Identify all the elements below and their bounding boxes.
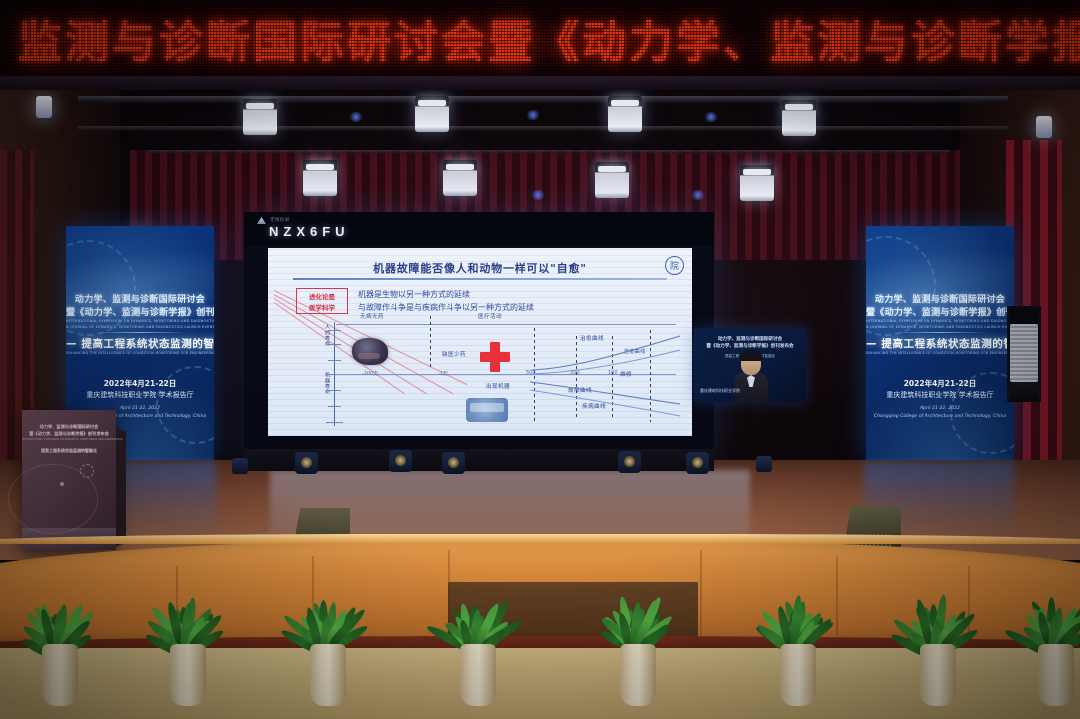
banner-subtitle: — 提高工程系统状态监测的智能化 —: [866, 336, 1014, 351]
chart-tick: [328, 390, 341, 391]
cast-connection-code: NZX6FU: [269, 224, 350, 239]
chart-annotation-machine-appear: 出现机器: [486, 382, 510, 390]
stage-par-light: [782, 100, 816, 136]
apron-panel-seam: [700, 550, 702, 636]
banner-title-line1: 动力学、监测与诊断国际研讨会: [866, 292, 1014, 305]
podium-title-line2: 暨《动力学、监测与诊断学报》创刊发布会: [22, 431, 116, 437]
potted-plant: [1018, 576, 1080, 706]
apron-panel-seam: [836, 556, 838, 636]
university-seal-icon: 院: [665, 256, 684, 275]
remote-speaker-video-feed[interactable]: 动力学、监测与诊断国际研讨会 暨《动力学、监测与诊断学报》创刊发布会 提高工程系…: [694, 328, 806, 402]
chart-tick: [328, 406, 341, 407]
video-caption: 重庆建筑科技职业学院: [700, 388, 740, 394]
side-spot-light: [1036, 116, 1052, 138]
slide-body-text: 机器是生物以另一种方式的延续 与故障作斗争是与疾病作斗争以另一种方式的延续: [358, 288, 678, 314]
red-callout-line1: 进化论是: [309, 291, 335, 301]
blue-led-fixture: [703, 112, 719, 122]
chart-phase-label-1: 无病无药: [360, 312, 384, 320]
stage-par-light: [443, 160, 477, 196]
banner-date-cn: 2022年4月21-22日: [866, 378, 1014, 389]
podium-en-line: INTERNATIONAL SYMPOSIUM ON DYNAMICS, MON…: [22, 438, 116, 441]
blue-led-fixture: [690, 190, 706, 200]
chart-cure-curve-line: [530, 324, 682, 376]
moving-head-light-small: [756, 456, 772, 472]
chart-tick: [326, 422, 343, 423]
chart-phase-label-2: 医疗活动: [478, 312, 502, 320]
stage-par-light: [595, 162, 629, 198]
banner-en-subtitle: ENHANCING THE INTELLIGENCE OF CONDITION …: [66, 351, 214, 355]
podium-title-line1: 动力学、监测与诊断国际研讨会: [22, 424, 116, 430]
moving-head-light: [686, 452, 709, 474]
gear-decor-icon: [80, 464, 94, 478]
banner-date-cn: 2022年4月21-22日: [66, 378, 214, 389]
led-banner-text: 监测与诊断国际研讨会暨《动力学、监测与诊断学报》创: [18, 8, 1080, 78]
lighting-truss-upper: [78, 96, 1008, 103]
banner-venue-cn: 重庆建筑科技职业学院 学术报告厅: [866, 390, 1014, 400]
potted-plant: [600, 576, 676, 706]
slide-title: 机器故障能否像人和动物一样可以"自愈": [268, 260, 692, 276]
main-projection-screen[interactable]: 无线投屏 NZX6FU 机器故障能否像人和动物一样可以"自愈" 院 进化论是 医…: [244, 212, 714, 464]
plant-pot: [460, 644, 496, 706]
moving-head-light: [295, 452, 318, 474]
potted-plant: [22, 576, 98, 706]
slide-title-divider: [293, 278, 666, 280]
plant-pot: [920, 644, 956, 706]
banner-subtitle: — 提高工程系统状态监测的智能化 —: [66, 336, 214, 351]
moving-head-light-small: [232, 458, 248, 474]
cast-brand-label: 无线投屏: [270, 217, 290, 223]
chart-annotation-shortage: 缺医少药: [442, 350, 466, 358]
lighting-truss-mid: [150, 150, 950, 154]
plant-pot: [42, 644, 78, 706]
plant-pot: [780, 644, 816, 706]
video-banner-line2: 暨《动力学、监测与诊断学报》创刊发布会: [694, 343, 806, 349]
stage-par-light: [740, 165, 774, 201]
ceiling-strip: [0, 76, 1080, 90]
banner-en-line1: INTERNATIONAL SYMPOSIUM ON DYNAMICS, MON…: [866, 319, 1014, 323]
banner-venue-en: Chongqing College of Architecture and Te…: [866, 414, 1014, 419]
chart-tick: [328, 344, 341, 345]
plant-pot: [1038, 644, 1074, 706]
potted-plant: [150, 576, 226, 706]
potted-plant: [900, 576, 976, 706]
blue-led-fixture: [530, 190, 546, 200]
banner-date-en: April 21-22, 2022: [866, 406, 1014, 411]
red-callout-line2: 医学科学: [309, 302, 335, 312]
chart-tick: [328, 330, 341, 331]
potted-plant: [440, 576, 516, 706]
presentation-slide: 机器故障能否像人和动物一样可以"自愈" 院 进化论是 医学科学 机器是生物以另一…: [268, 248, 692, 436]
banner-divider: [893, 332, 988, 333]
plant-pot: [170, 644, 206, 706]
plant-pot: [620, 644, 656, 706]
moving-head-light: [389, 450, 412, 472]
stage-apron-lip: [0, 534, 1080, 544]
moving-head-light: [618, 451, 641, 473]
pa-speaker-stack-right: [1007, 306, 1041, 402]
slide-body-line2: 与故障作斗争是与疾病作斗争以另一种方式的延续: [358, 301, 678, 314]
skull-fossil-image: [352, 338, 388, 365]
stage-par-light: [415, 96, 449, 132]
machine-illustration-image: [466, 398, 508, 422]
chart-y-label-machine: 机器寿命: [324, 372, 331, 395]
banner-title-line2: 暨《动力学、监测与诊断学报》创刊发布会: [66, 305, 214, 318]
pa-speaker-cabinet: [1010, 324, 1038, 382]
slide-body-line1: 机器是生物以另一种方式的延续: [358, 288, 678, 301]
banner-en-line1: INTERNATIONAL SYMPOSIUM ON DYNAMICS, MON…: [66, 319, 214, 323]
podium-dot-decor: [60, 482, 64, 486]
moving-head-light: [442, 452, 465, 474]
potted-plant: [760, 576, 836, 706]
chart-phase-divider: [430, 316, 431, 368]
banner-title-line1: 动力学、监测与诊断国际研讨会: [66, 292, 214, 305]
side-led-banner-right: 动力学、监测与诊断国际研讨会 暨《动力学、监测与诊断学报》创刊发布会 INTER…: [866, 226, 1014, 460]
medical-cross-icon: [480, 342, 510, 372]
speaker-figure: [734, 352, 768, 402]
banner-en-subtitle: ENHANCING THE INTELLIGENCE OF CONDITION …: [866, 351, 1014, 355]
blue-led-fixture: [348, 112, 364, 122]
chart-tick-label: -200万: [362, 370, 378, 377]
auditorium-scene: 监测与诊断国际研讨会暨《动力学、监测与诊断学报》创 动力学、监测与诊断国际研讨会…: [0, 0, 1080, 719]
banner-en-line2: & JOURNAL OF DYNAMICS, MONITORING AND DI…: [66, 325, 214, 329]
chart-tick-label: -1万: [438, 370, 448, 377]
blue-led-fixture: [525, 110, 541, 120]
stage-par-light: [303, 160, 337, 196]
speaker-podium[interactable]: 动力学、监测与诊断国际研讨会 暨《动力学、监测与诊断学报》创刊发布会 INTER…: [22, 410, 116, 550]
video-banner-line1: 动力学、监测与诊断国际研讨会: [694, 336, 806, 342]
stage-par-light: [608, 96, 642, 132]
banner-en-line2: & JOURNAL OF DYNAMICS, MONITORING AND DI…: [866, 325, 1014, 329]
lighting-truss-upper-lower-chord: [78, 126, 1008, 131]
banner-title-line2: 暨《动力学、监测与诊断学报》创刊发布会: [866, 305, 1014, 318]
plant-pot: [310, 644, 346, 706]
banner-divider: [93, 332, 188, 333]
speaker-hair: [739, 350, 763, 361]
stage-par-light: [243, 99, 277, 135]
cast-triangle-icon: [257, 217, 266, 224]
potted-plant: [290, 576, 366, 706]
pa-speaker-stand: [1009, 382, 1039, 402]
chart-fault-curve-line: [528, 376, 682, 422]
slide-red-callout-box: 进化论是 医学科学: [296, 288, 348, 314]
cast-status-bar: 无线投屏 NZX6FU: [244, 212, 714, 246]
side-spot-light: [36, 96, 52, 118]
led-scrolling-banner: 监测与诊断国际研讨会暨《动力学、监测与诊断学报》创: [0, 0, 1080, 86]
chart-tick: [328, 360, 341, 361]
banner-venue-cn: 重庆建筑科技职业学院 学术报告厅: [66, 390, 214, 400]
podium-subtitle: 提高工程系统状态监测的智能化: [22, 448, 116, 454]
slide-chart: 人的寿命 机器寿命 无病无药 医疗活动 缺医少药 出现机器: [290, 320, 682, 428]
